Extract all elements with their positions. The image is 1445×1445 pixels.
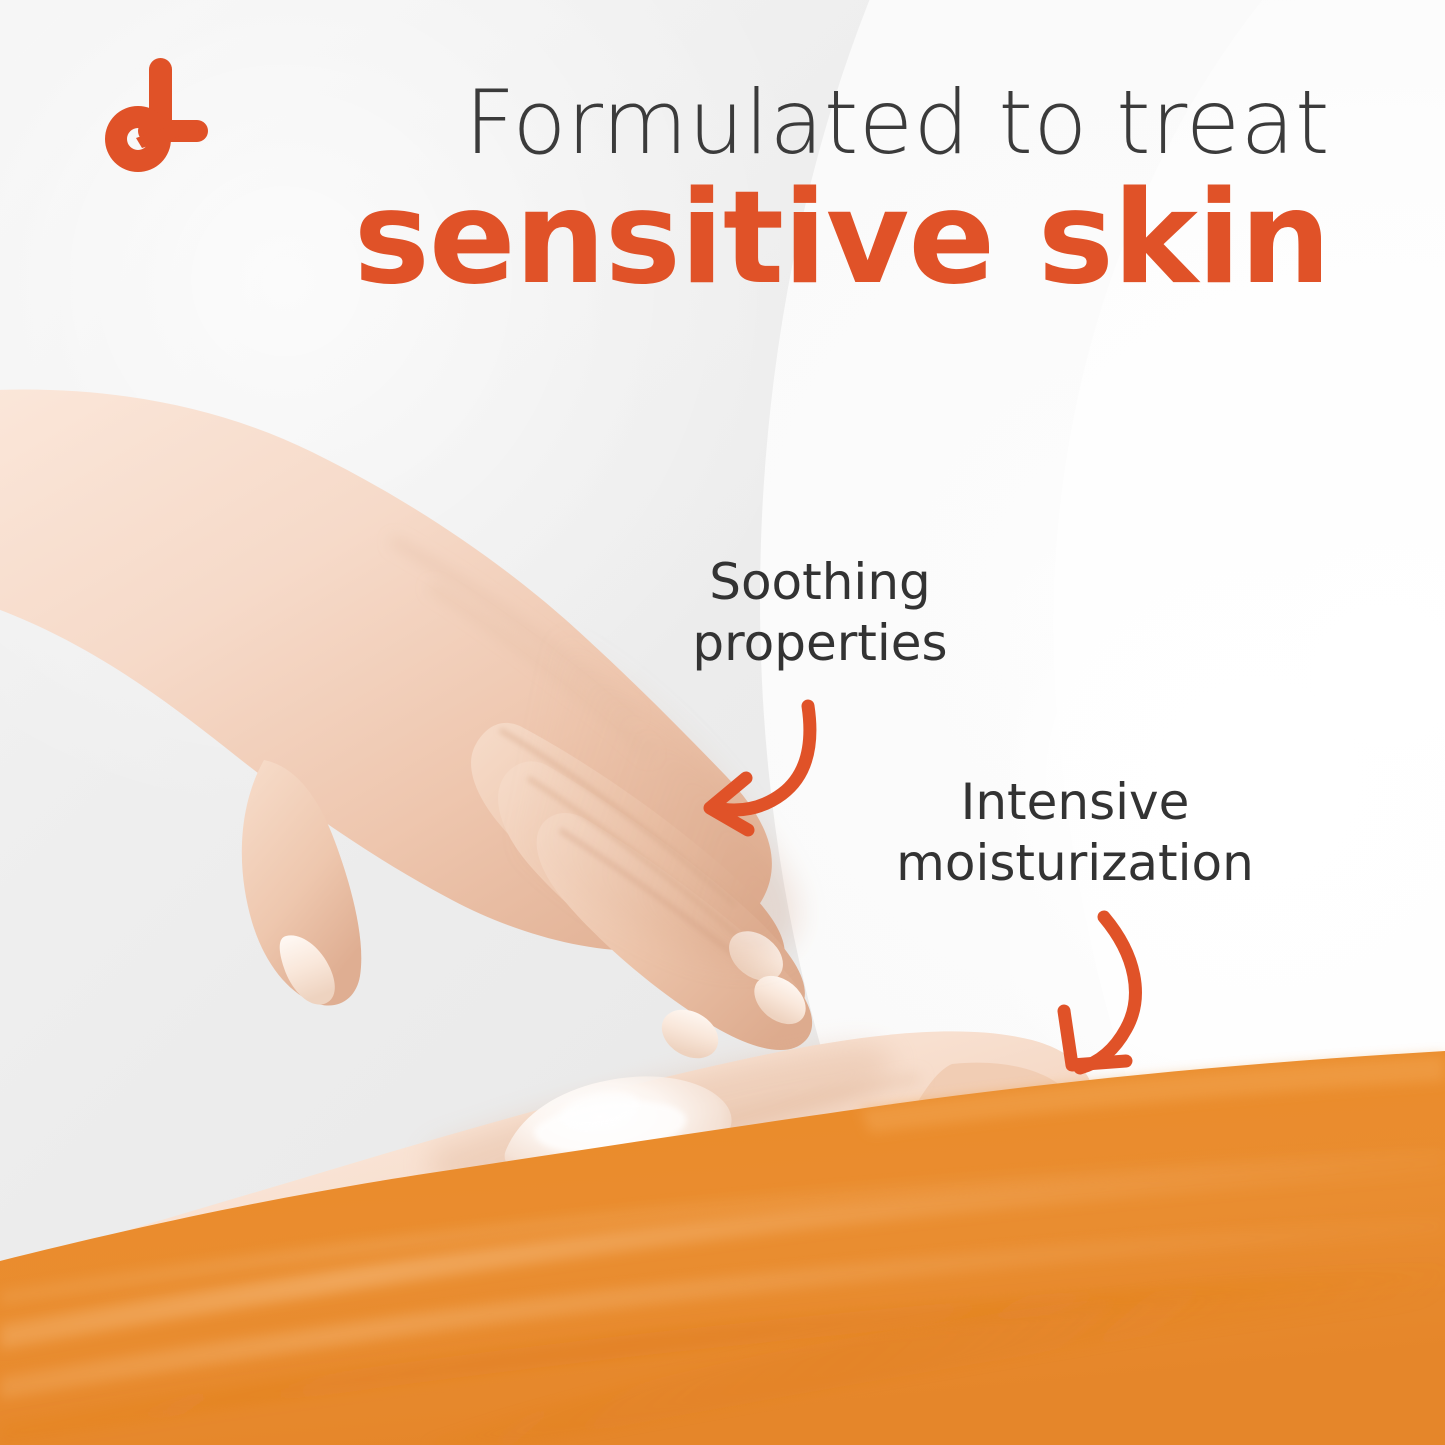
headline: Formulated to treat sensitive skin [320, 78, 1330, 304]
brand-monogram-d-icon [92, 54, 214, 176]
product-promo-poster: Formulated to treat sensitive skin Sooth… [0, 0, 1445, 1445]
curved-arrow-down-left-icon [690, 690, 840, 830]
headline-line-1: Formulated to treat [320, 78, 1330, 168]
headline-line-2: sensitive skin [320, 174, 1330, 305]
orange-wave-band [0, 1025, 1445, 1445]
curved-arrow-down-left-icon-2 [1040, 905, 1200, 1080]
brand-logo[interactable] [92, 54, 214, 176]
callout-intensive-moisturization: Intensive moisturization [840, 772, 1310, 894]
callout-soothing-properties: Soothing properties [630, 552, 1010, 674]
